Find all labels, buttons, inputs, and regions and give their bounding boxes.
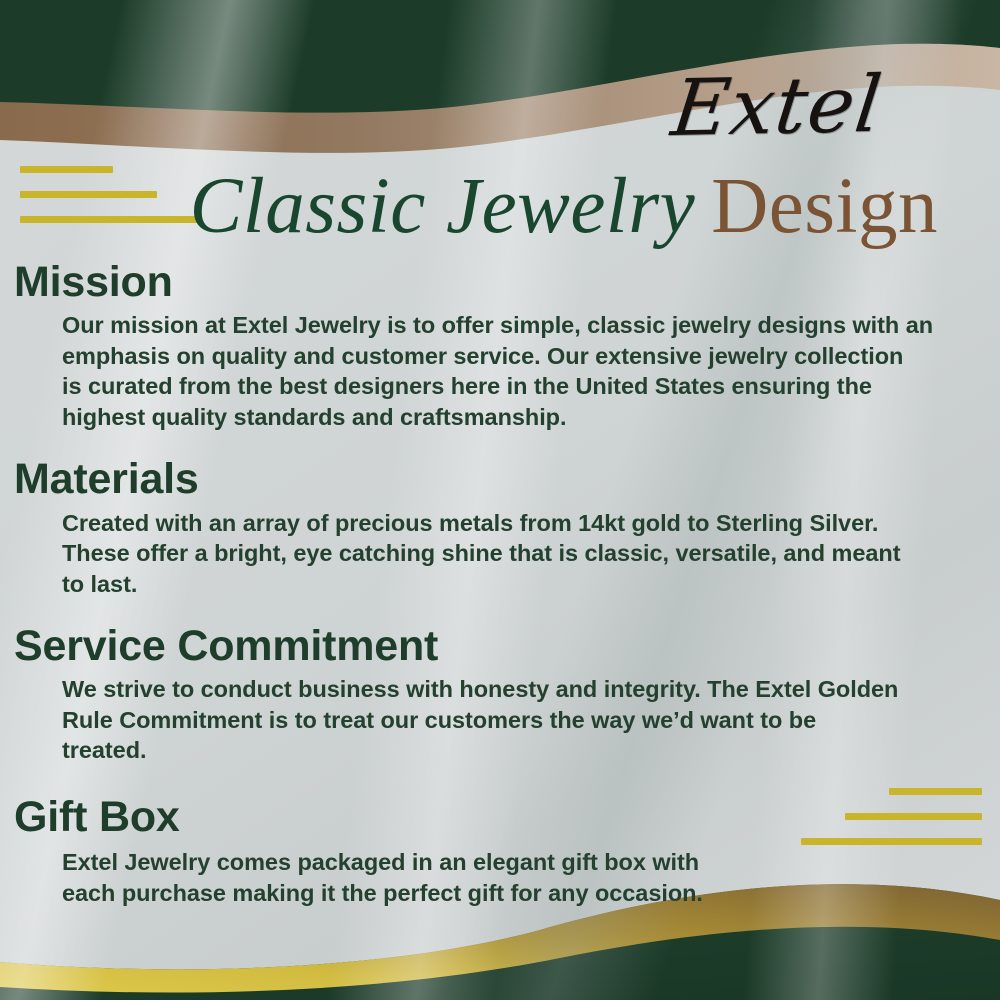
accent-lines-bottom-right xyxy=(801,788,982,845)
brand-logo: Extel xyxy=(607,65,947,150)
section-heading-service-commitment: Service Commitment xyxy=(14,622,1000,670)
section-body-mission: Our mission at Extel Jewelry is to offer… xyxy=(62,310,978,432)
accent-line xyxy=(801,838,982,845)
section-heading-materials: Materials xyxy=(14,455,1000,503)
section-body-line: Extel Jewelry comes packaged in an elega… xyxy=(62,847,978,878)
poster-canvas: Extel Classic Jewelry Design Mission Our… xyxy=(0,0,1000,1000)
section-body-line: Our mission at Extel Jewelry is to offer… xyxy=(62,310,978,341)
page-title: Classic Jewelry Design xyxy=(0,158,1000,254)
section-body-line: Rule Commitment is to treat our customer… xyxy=(62,705,978,736)
section-materials: Materials Created with an array of preci… xyxy=(0,455,1000,599)
section-body-line: These offer a bright, eye catching shine… xyxy=(62,538,978,569)
section-body-line: emphasis on quality and customer service… xyxy=(62,341,978,372)
section-body-line: is curated from the best designers here … xyxy=(62,371,978,402)
section-body-materials: Created with an array of precious metals… xyxy=(62,508,978,600)
section-mission: Mission Our mission at Extel Jewelry is … xyxy=(0,258,1000,432)
page-title-part-classic-jewelry: Classic Jewelry xyxy=(190,167,696,246)
page-title-part-design: Design xyxy=(711,167,938,246)
section-body-line: to last. xyxy=(62,569,978,600)
accent-line xyxy=(845,813,982,820)
section-body-line: We strive to conduct business with hones… xyxy=(62,674,978,705)
section-body-line: highest quality standards and craftsmans… xyxy=(62,402,978,433)
accent-line xyxy=(889,788,982,795)
section-body-line: each purchase making it the perfect gift… xyxy=(62,878,978,909)
section-body-line: treated. xyxy=(62,735,978,766)
section-body-gift-box: Extel Jewelry comes packaged in an elega… xyxy=(62,847,978,908)
section-body-line: Created with an array of precious metals… xyxy=(62,508,978,539)
section-service-commitment: Service Commitment We strive to conduct … xyxy=(0,622,1000,766)
section-body-service-commitment: We strive to conduct business with hones… xyxy=(62,674,978,766)
section-heading-mission: Mission xyxy=(14,258,1000,306)
